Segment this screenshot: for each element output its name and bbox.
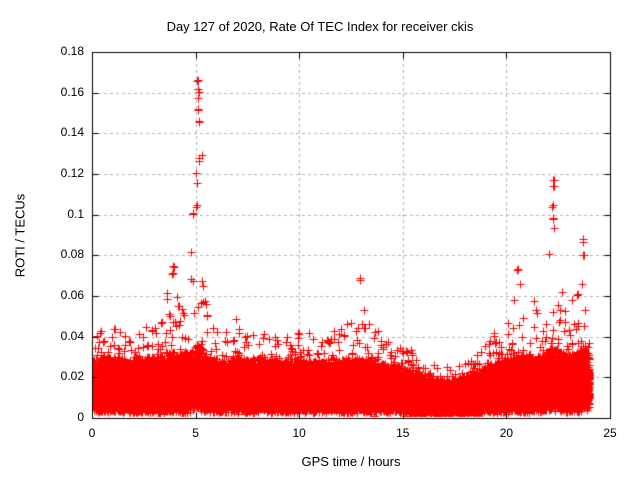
- x-tick-label: 20: [486, 426, 526, 440]
- y-tick-label: 0.14: [24, 125, 84, 139]
- y-tick-label: 0.18: [24, 44, 84, 58]
- x-tick-label: 25: [590, 426, 630, 440]
- y-tick-label: 0.02: [24, 369, 84, 383]
- scatter-plot-canvas: [0, 0, 640, 480]
- y-tick-label: 0.06: [24, 288, 84, 302]
- y-tick-label: 0.08: [24, 247, 84, 261]
- y-tick-label: 0.12: [24, 166, 84, 180]
- y-tick-label: 0: [24, 410, 84, 424]
- chart-container: Day 127 of 2020, Rate Of TEC Index for r…: [0, 0, 640, 480]
- y-axis-label: ROTI / TECUs: [13, 176, 28, 296]
- chart-title: Day 127 of 2020, Rate Of TEC Index for r…: [0, 19, 640, 34]
- x-tick-label: 15: [383, 426, 423, 440]
- y-tick-label: 0.16: [24, 85, 84, 99]
- y-tick-label: 0.1: [24, 207, 84, 221]
- x-axis-label: GPS time / hours: [92, 454, 610, 469]
- x-tick-label: 5: [176, 426, 216, 440]
- x-tick-label: 10: [279, 426, 319, 440]
- y-tick-label: 0.04: [24, 329, 84, 343]
- x-tick-label: 0: [72, 426, 112, 440]
